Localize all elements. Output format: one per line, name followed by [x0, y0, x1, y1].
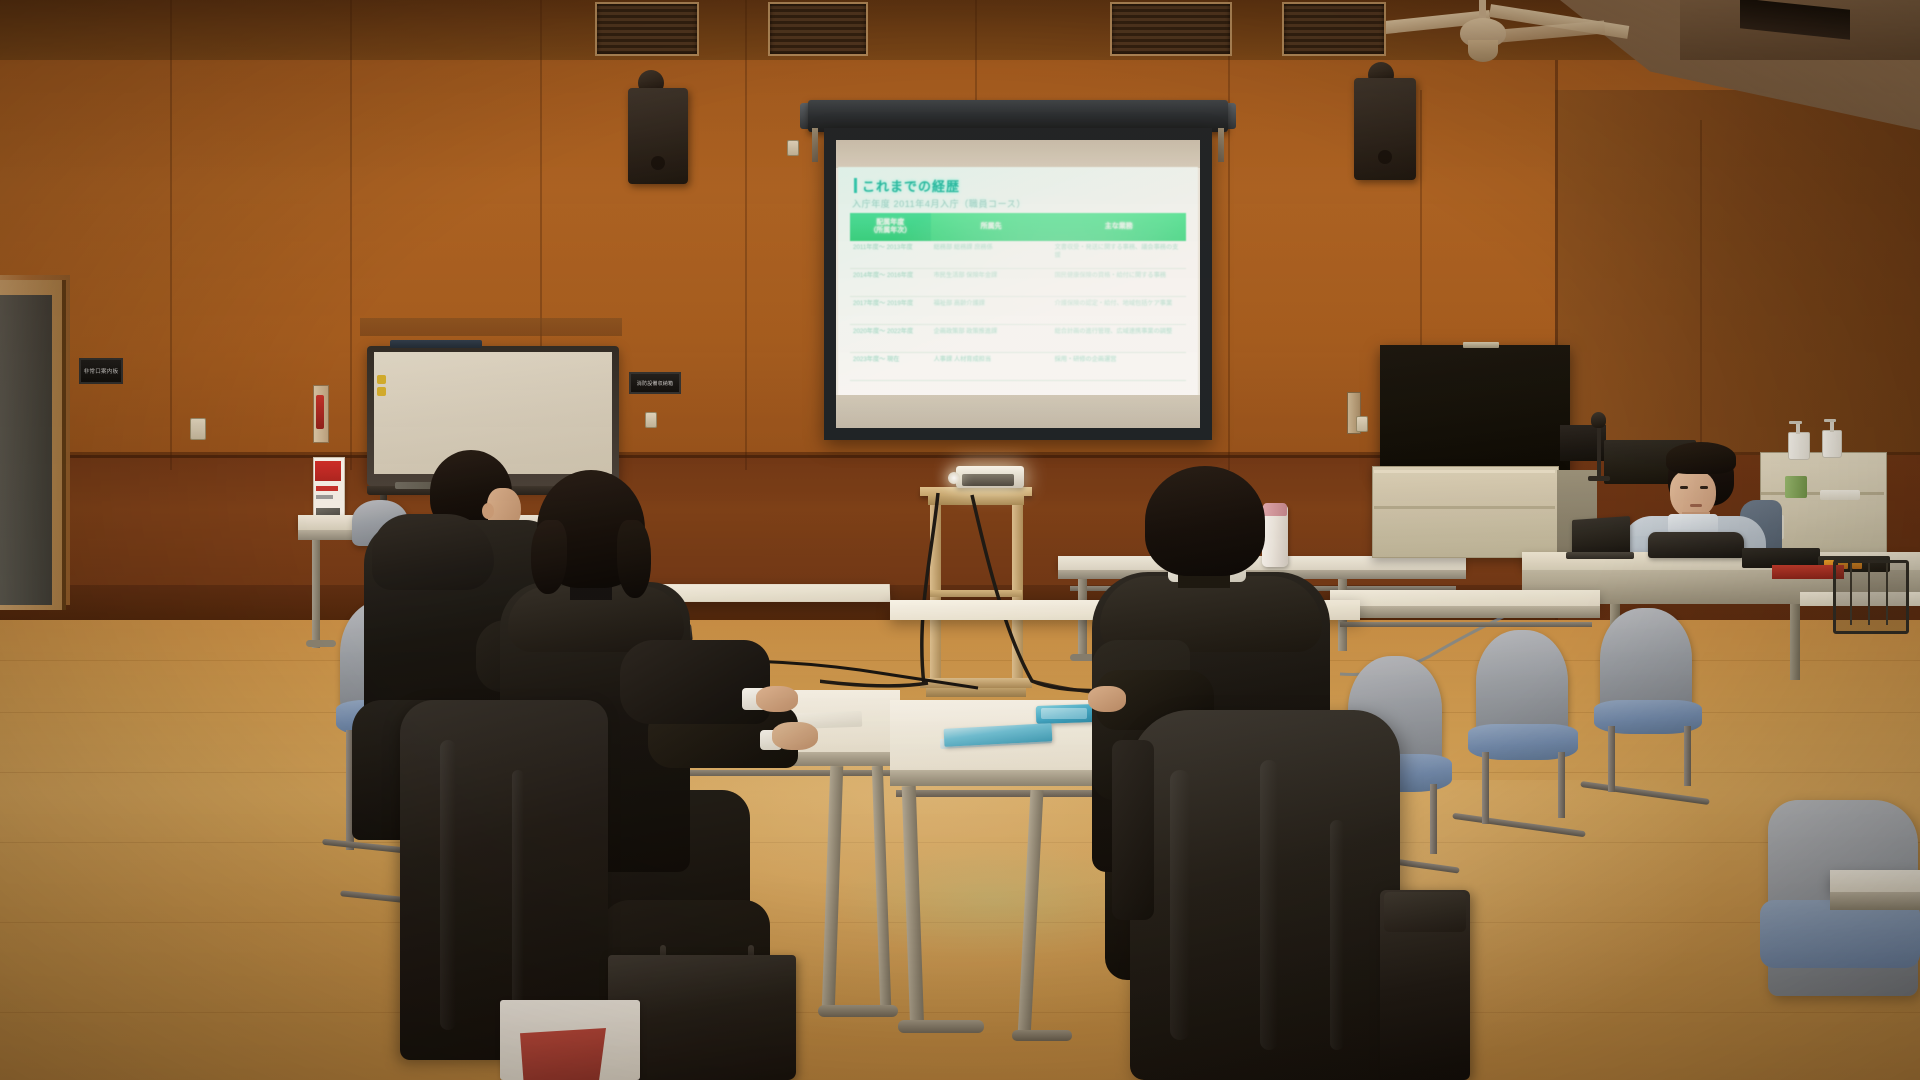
wall-seam [350, 0, 352, 470]
slide-cell-section: 総務部 総務課 庶務係 [931, 241, 1052, 269]
slide-title-accent-bar [854, 178, 857, 193]
sanitizer-bottle[interactable] [1822, 430, 1842, 458]
spray-bottle[interactable] [1785, 476, 1807, 498]
wall-plaque-right: 消防設備収納箱 [629, 372, 681, 394]
slide-subtitle: 入庁年度 2011年4月入庁（職員コース） [852, 197, 1026, 210]
chair-leg [1482, 752, 1489, 824]
person-ear [482, 503, 494, 519]
person-hand [772, 722, 818, 750]
person-arm [620, 640, 770, 724]
slide-cell-period: 2017年度～ 2019年度 [850, 297, 931, 325]
slide-cell-section: 企画政策部 政策推進課 [931, 325, 1052, 353]
shopping-bag-print [520, 1028, 606, 1080]
person-mouth [1690, 504, 1702, 507]
slide-cell-duties: 介護保険の認定・給付、地域包括ケア事業 [1052, 297, 1186, 325]
wall-seam [975, 0, 977, 100]
slide-cell-section: 市民生活部 保険年金課 [931, 269, 1052, 297]
chair-armrest [1112, 740, 1154, 920]
ceiling-fan-housing [1468, 40, 1498, 62]
wall-vent [768, 2, 868, 56]
wall-outlet[interactable] [787, 140, 799, 156]
thermos-cap[interactable] [1263, 503, 1287, 516]
slide-cell-section: 福祉部 高齢介護課 [931, 297, 1052, 325]
chair-leg [1430, 784, 1437, 854]
person-hand [1088, 686, 1126, 712]
person-eye [1680, 486, 1688, 489]
right-u-table-edge [1330, 606, 1600, 618]
slide-col-section: 所属先 [931, 213, 1052, 241]
slide-table-row: 2020年度～ 2022年度企画政策部 政策推進課総合計画の進行管理、広域連携事… [850, 325, 1186, 353]
table-foot [306, 640, 336, 647]
slide-cell-duties: 採用・研修の企画運営 [1052, 353, 1186, 381]
person-eye [1700, 486, 1708, 489]
slide-table-header-row: 配属年度（所属年次） 所属先 主な業務 [850, 213, 1186, 241]
whiteboard-top-clip [390, 340, 482, 348]
person-hand [756, 686, 798, 712]
slide-cell-duties: 文書収受・発送に関する事務、議会事務の支援 [1052, 241, 1186, 269]
slide-col-duties: 主な業務 [1052, 213, 1186, 241]
black-bag-on-desk[interactable] [1648, 532, 1744, 558]
cabinet-edge [1374, 470, 1555, 473]
left-front-table-rail [690, 770, 895, 776]
chair-leg [1558, 752, 1565, 818]
slide-table: 配属年度（所属年次） 所属先 主な業務 2011年度～ 2013年度総務部 総務… [850, 213, 1186, 381]
right-u-table-top [1330, 590, 1600, 606]
poster-text-line [316, 486, 338, 491]
microphone-base [1588, 476, 1610, 481]
chair-leg [1684, 726, 1691, 786]
smartphone-screen[interactable] [1041, 708, 1087, 719]
table-leg [312, 540, 320, 648]
screen-bottom-band [836, 395, 1200, 428]
slide-table-row: 2017年度～ 2019年度福祉部 高齢介護課介護保険の認定・給付、地域包括ケア… [850, 297, 1186, 325]
slide-cell-period: 2011年度～ 2013年度 [850, 241, 931, 269]
whiteboard-upper-shadow [360, 318, 622, 336]
display-panel-mount [1463, 342, 1499, 348]
fire-extinguisher-icon [316, 395, 324, 429]
person-hair [1145, 466, 1265, 576]
person-hair [617, 520, 651, 598]
wall-outlet[interactable] [190, 418, 206, 440]
slide-cell-duties: 国民健康保険の資格・給付に関する事務 [1052, 269, 1186, 297]
microphone-icon[interactable] [1591, 412, 1606, 428]
briefcase-flap [1384, 892, 1466, 932]
wall-seam [1700, 120, 1702, 460]
wall-seam [745, 0, 747, 470]
slide-table-row: 2014年度～ 2016年度市民生活部 保険年金課国民健康保険の資格・給付に関す… [850, 269, 1186, 297]
slide-cell-period: 2023年度～ 現在 [850, 353, 931, 381]
wall-plaque-left-text: 非常口案内板 [84, 367, 119, 375]
slide-title-group: これまでの経歴 [854, 176, 960, 195]
laptop-keyboard[interactable] [1566, 552, 1634, 559]
wall-vent [595, 2, 699, 56]
poster-text-line [316, 495, 333, 499]
storage-cabinet[interactable] [1372, 466, 1559, 558]
wall-speaker-right [1354, 78, 1416, 180]
slide-cell-section: 人事課 人材育成担当 [931, 353, 1052, 381]
wall-seam [170, 0, 172, 470]
cabinet-drawer-line [1374, 506, 1555, 509]
table-leg [1078, 579, 1087, 661]
person-hair [531, 520, 567, 594]
table-foot [898, 1020, 984, 1033]
projector-lens-icon [948, 472, 960, 484]
wire-cart[interactable] [1833, 560, 1909, 634]
display-panel[interactable] [1380, 345, 1570, 475]
shirt-collar [1668, 514, 1718, 534]
slide-table-row: 2011年度～ 2013年度総務部 総務課 庶務係文書収受・発送に関する事務、議… [850, 241, 1186, 269]
door-leaf [0, 295, 52, 605]
slide-table-row: 2023年度～ 現在人事課 人材育成担当採用・研修の企画運営 [850, 353, 1186, 381]
screen-top-band [836, 140, 1200, 168]
projected-slide: これまでの経歴 入庁年度 2011年4月入庁（職員コース） 配属年度（所属年次）… [838, 167, 1198, 397]
screen-housing-tab [812, 128, 818, 162]
meeting-room-photo: これまでの経歴 入庁年度 2011年4月入庁（職員コース） 配属年度（所属年次）… [0, 0, 1920, 1080]
wall-vent [1110, 2, 1232, 56]
wall-plaque-right-text: 消防設備収納箱 [637, 380, 673, 387]
screen-housing-tab [1218, 128, 1224, 162]
wall-outlet[interactable] [645, 412, 657, 428]
sanitizer-nozzle [1824, 419, 1836, 422]
table-foot [818, 1005, 898, 1017]
microphone-stand [1597, 420, 1601, 480]
desk-leg [1790, 604, 1800, 680]
slide-cell-period: 2014年度～ 2016年度 [850, 269, 931, 297]
corner-table-edge [1830, 892, 1920, 910]
wall-vent [1282, 2, 1386, 56]
wall-seam [1228, 0, 1230, 470]
wall-outlet[interactable] [1356, 416, 1368, 432]
hoodie-hood [372, 514, 494, 590]
puffer-coat-on-chair[interactable] [1130, 710, 1400, 1080]
sanitizer-bottle[interactable] [1788, 432, 1810, 460]
slide-col-period: 配属年度（所属年次） [850, 213, 931, 241]
folded-towel [1820, 490, 1860, 500]
slide-cell-duties: 総合計画の進行管理、広域連携事業の調整 [1052, 325, 1186, 353]
person-hair [1666, 442, 1736, 474]
right-u-table-rail [1340, 622, 1592, 627]
table-foot [1012, 1030, 1072, 1041]
poster-headline-band [315, 461, 341, 481]
wall-speaker-left [628, 88, 688, 184]
corner-table-top [1830, 870, 1920, 892]
whiteboard-magnet [377, 387, 386, 396]
slide-title: これまでの経歴 [862, 176, 960, 195]
wall-plaque-left: 非常口案内板 [79, 358, 123, 384]
slide-cell-period: 2020年度～ 2022年度 [850, 325, 931, 353]
chair-seat[interactable] [1760, 900, 1920, 968]
whiteboard-magnet [377, 375, 386, 384]
chair-leg [1608, 726, 1615, 792]
person-face [1670, 470, 1716, 518]
sanitizer-nozzle [1789, 421, 1802, 424]
